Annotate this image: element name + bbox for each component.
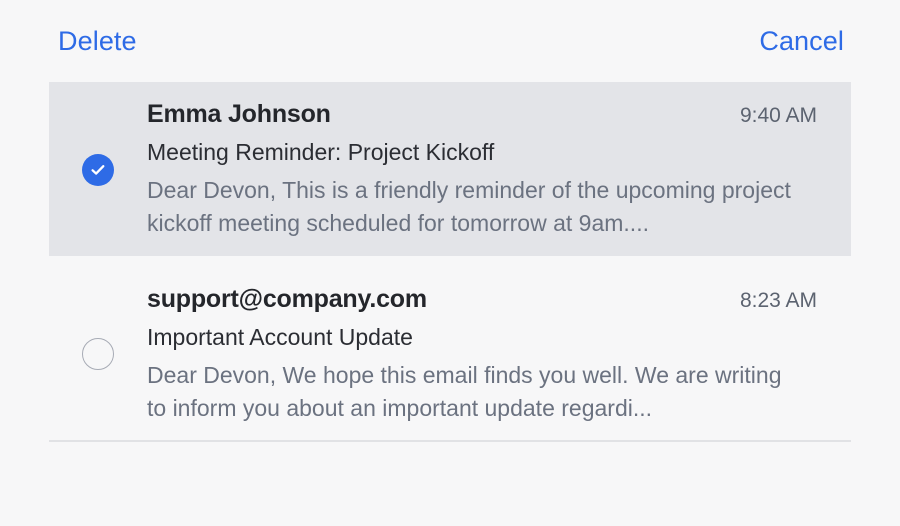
email-header-line: support@company.com 8:23 AM [147, 284, 850, 315]
email-list: Emma Johnson 9:40 AM Meeting Reminder: P… [0, 82, 900, 442]
cancel-button[interactable]: Cancel [759, 28, 844, 55]
email-header-line: Emma Johnson 9:40 AM [147, 99, 850, 130]
email-preview: Dear Devon, This is a friendly reminder … [147, 174, 807, 241]
email-timestamp: 9:40 AM [724, 103, 817, 129]
email-list-item[interactable]: support@company.com 8:23 AM Important Ac… [49, 267, 851, 441]
email-list-item[interactable]: Emma Johnson 9:40 AM Meeting Reminder: P… [49, 82, 851, 256]
delete-button[interactable]: Delete [58, 28, 137, 55]
list-divider [49, 440, 851, 442]
email-subject: Meeting Reminder: Project Kickoff [147, 136, 850, 169]
email-timestamp: 8:23 AM [724, 288, 817, 314]
email-preview: Dear Devon, We hope this email finds you… [147, 359, 807, 426]
circle-outline-icon[interactable] [82, 338, 114, 370]
check-circle-filled-icon[interactable] [82, 154, 114, 186]
email-subject: Important Account Update [147, 321, 850, 354]
select-checkbox-cell[interactable] [49, 99, 147, 241]
select-checkbox-cell[interactable] [49, 284, 147, 426]
email-sender: Emma Johnson [147, 99, 331, 130]
action-bar: Delete Cancel [0, 0, 900, 82]
email-content: support@company.com 8:23 AM Important Ac… [147, 284, 851, 426]
email-content: Emma Johnson 9:40 AM Meeting Reminder: P… [147, 99, 851, 241]
email-sender: support@company.com [147, 284, 427, 315]
row-gap [0, 256, 900, 267]
